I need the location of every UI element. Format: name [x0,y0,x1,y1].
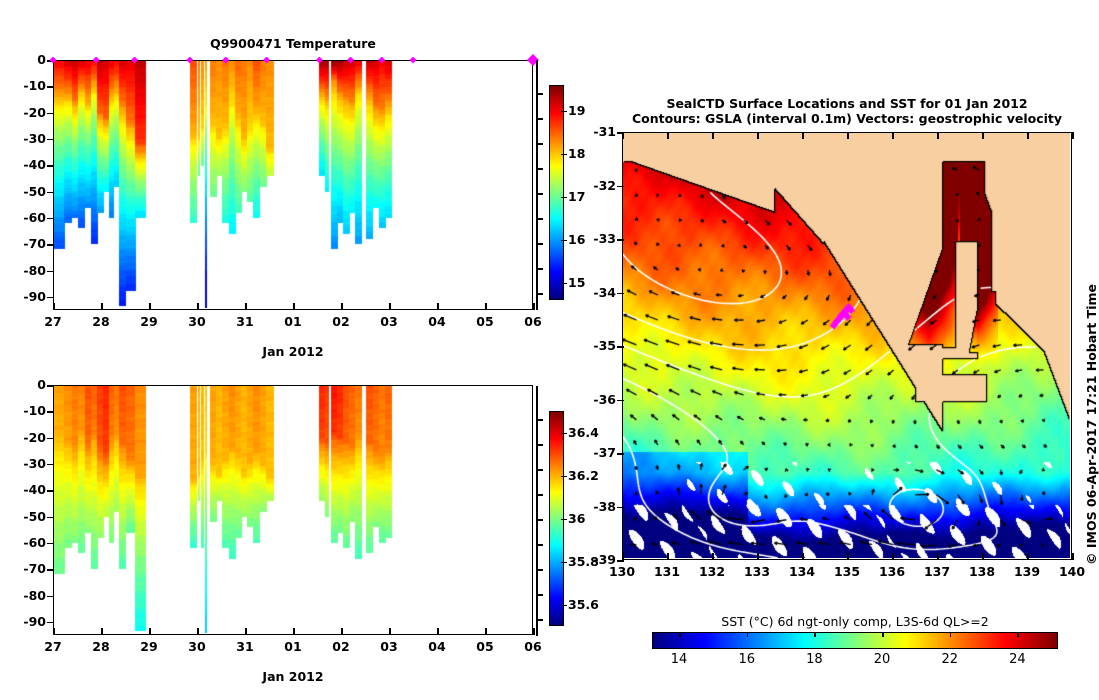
sst-cbar-tick-4: 22 [936,652,964,667]
temperature-ytick-9: -90 [8,291,46,304]
map-xtickmark-top-3 [757,132,759,139]
sst-cbar-tickmark-3 [882,632,884,637]
map-xtickmark-top-4 [802,132,804,139]
map-xtick-1: 131 [650,566,684,579]
map-ytickmark-3 [617,293,624,295]
map-xtickmark-2 [712,553,714,560]
salinity-axes [53,385,533,635]
map-title-line2: Contours: GSLA (interval 0.1m) Vectors: … [622,111,1072,126]
salinity-xtickmark-6 [341,628,343,635]
salinity-ytick-8: -80 [8,590,46,603]
salinity-xtick-6: 02 [325,641,357,654]
map-xtickmark-6 [892,553,894,560]
temperature-cbar-tick-3: 16 [568,234,585,247]
temperature-axes [53,60,533,310]
map-xtickmark-7 [937,553,939,560]
map-xtickmark-4 [802,553,804,560]
salinity-xtick-0: 27 [37,641,69,654]
map-xtick-2: 132 [695,566,729,579]
map-ytickmark-1 [617,186,624,188]
temperature-ytick-4: -40 [8,159,46,172]
salinity-xtick-7: 03 [373,641,405,654]
salinity-ytick-4: -40 [8,484,46,497]
salinity-ytick-1: -10 [8,405,46,418]
imos-credit: © IMOS 06-Apr-2017 17:21 Hobart Time [1084,284,1099,565]
temperature-cbar-tick-2: 17 [568,191,585,204]
salinity-xtick-1: 28 [85,641,117,654]
map-xtickmark-top-7 [937,132,939,139]
temperature-xtickmark-1 [101,303,103,310]
map-ytickmark-7 [617,507,624,509]
salinity-xtick-5: 01 [277,641,309,654]
temperature-xtick-10: 06 [517,316,549,329]
salinity-xtickmark-8 [437,628,439,635]
sst-cbar-tick-3: 20 [868,652,896,667]
salinity-cbar-tick-4: 35.6 [568,599,599,612]
temperature-ytick-5: -50 [8,186,46,199]
salinity-xlabel: Jan 2012 [53,669,533,684]
map-xtickmark-3 [757,553,759,560]
temperature-xtickmark-9 [485,303,487,310]
salinity-ytickmark-9 [47,622,54,624]
temperature-ytickmark-1 [47,86,54,88]
salinity-xtick-2: 29 [133,641,165,654]
temperature-ytickmark-9 [47,297,54,299]
temperature-ytick-6: -60 [8,212,46,225]
temperature-xtick-6: 02 [325,316,357,329]
temperature-ytick-1: -10 [8,80,46,93]
sst-colorbar-label: SST (°C) 6d ngt-only comp, L3S-6d QL>=2 [645,614,1065,629]
salinity-ytickmark-5 [47,517,54,519]
salinity-xtick-9: 05 [469,641,501,654]
temperature-cbar-tickmark-4 [561,283,567,285]
salinity-ytickmark-4 [47,490,54,492]
temperature-ytickmark-4 [47,165,54,167]
temperature-heatmap [54,61,531,308]
salinity-cbar-tick-0: 36.4 [568,427,599,440]
map-xtickmark-9 [1027,553,1029,560]
salinity-ytickmark-2 [47,438,54,440]
map-ytick-1: -32 [586,180,616,193]
sst-cbar-tickmark-1 [747,632,749,637]
temperature-ytick-0: 0 [8,54,46,67]
temperature-ytick-8: -80 [8,265,46,278]
salinity-ytick-6: -60 [8,537,46,550]
salinity-xtickmark-3 [197,628,199,635]
temperature-xtickmark-3 [197,303,199,310]
sst-cbar-tickmark-5 [1017,632,1019,637]
map-ytick-0: -31 [586,126,616,139]
map-xtick-3: 133 [740,566,774,579]
temperature-xtick-9: 05 [469,316,501,329]
map-title-line1: SealCTD Surface Locations and SST for 01… [622,96,1072,111]
salinity-xtick-3: 30 [181,641,213,654]
salinity-cbar-tick-2: 36 [568,513,585,526]
salinity-ytickmark-8 [47,596,54,598]
map-ytick-3: -34 [586,287,616,300]
temperature-xtick-5: 01 [277,316,309,329]
sst-cbar-tick-5: 24 [1003,652,1031,667]
temperature-ytick-2: -20 [8,107,46,120]
temperature-cbar-tick-4: 15 [568,277,585,290]
sst-cbar-tickmark-4 [950,632,952,637]
temperature-ytickmark-2 [47,113,54,115]
map-axes [622,132,1072,560]
salinity-ytick-2: -20 [8,432,46,445]
temperature-ytickmark-5 [47,192,54,194]
salinity-xtick-10: 06 [517,641,549,654]
temperature-cbar-tickmark-1 [561,154,567,156]
map-xtick-8: 138 [965,566,999,579]
map-xtick-10: 140 [1055,566,1089,579]
sst-cbar-tickmark-2 [814,632,816,637]
sst-cbar-tick-1: 16 [733,652,761,667]
temperature-cbar-tick-0: 19 [568,105,585,118]
temperature-xtickmark-10 [533,303,535,310]
temperature-xtick-4: 31 [229,316,261,329]
salinity-ytick-9: -90 [8,616,46,629]
salinity-ytickmark-0 [47,385,54,387]
salinity-cbar-tickmark-4 [561,605,567,607]
salinity-xtick-8: 04 [421,641,453,654]
temperature-xtickmark-5 [293,303,295,310]
temperature-xtickmark-8 [437,303,439,310]
salinity-ytickmark-7 [47,569,54,571]
map-xtick-6: 136 [875,566,909,579]
temperature-ytickmark-8 [47,271,54,273]
salinity-cbar-tickmark-1 [561,476,567,478]
map-ytick-4: -35 [586,340,616,353]
map-ytickmark-5 [617,400,624,402]
salinity-xtickmark-4 [245,628,247,635]
salinity-ytick-5: -50 [8,511,46,524]
map-xtickmark-top-8 [982,132,984,139]
salinity-ytickmark-6 [47,543,54,545]
temperature-xtick-0: 27 [37,316,69,329]
map-xtickmark-1 [667,553,669,560]
temperature-xtick-8: 04 [421,316,453,329]
map-xtickmark-5 [847,553,849,560]
temperature-xtickmark-2 [149,303,151,310]
temperature-xtickmark-7 [389,303,391,310]
map-xtickmark-top-1 [667,132,669,139]
salinity-xtickmark-10 [533,628,535,635]
temperature-cbar-tickmark-3 [561,240,567,242]
salinity-xtickmark-0 [53,628,55,635]
salinity-ytick-3: -30 [8,458,46,471]
temperature-xtick-7: 03 [373,316,405,329]
temperature-xtickmark-0 [53,303,55,310]
map-xtickmark-top-2 [712,132,714,139]
map-ytick-7: -38 [586,501,616,514]
sst-colorbar [652,632,1058,649]
map-xtickmark-8 [982,553,984,560]
salinity-xtickmark-2 [149,628,151,635]
temperature-title: Q9900471 Temperature [53,36,533,51]
salinity-heatmap [54,386,531,633]
salinity-cbar-tick-1: 36.2 [568,470,599,483]
map-xtick-0: 130 [605,566,639,579]
salinity-cbar-tickmark-2 [561,519,567,521]
map-ytick-6: -37 [586,447,616,460]
salinity-xtickmark-5 [293,628,295,635]
temperature-colorbar [549,85,564,300]
map-ytickmark-4 [617,346,624,348]
cbar-outer-spine [536,386,538,636]
salinity-xtick-4: 31 [229,641,261,654]
temperature-ytickmark-7 [47,244,54,246]
temperature-ytickmark-3 [47,139,54,141]
map-ytick-5: -36 [586,394,616,407]
temperature-cbar-tick-1: 18 [568,148,585,161]
temperature-ytick-3: -30 [8,133,46,146]
temperature-xlabel: Jan 2012 [53,344,533,359]
map-ytickmark-8 [617,560,624,562]
temperature-cbar-tickmark-0 [561,111,567,113]
map-xtickmark-top-5 [847,132,849,139]
temperature-xtick-1: 28 [85,316,117,329]
salinity-ytickmark-3 [47,464,54,466]
map-xtick-4: 134 [785,566,819,579]
temperature-xtickmark-6 [341,303,343,310]
sst-cbar-tickmark-0 [679,632,681,637]
salinity-xtickmark-1 [101,628,103,635]
salinity-ytick-7: -70 [8,563,46,576]
map-ytickmark-2 [617,239,624,241]
temperature-ytickmark-6 [47,218,54,220]
map-xtickmark-top-0 [622,132,624,139]
salinity-ytick-0: 0 [8,379,46,392]
temperature-xtick-3: 30 [181,316,213,329]
temperature-ytick-7: -70 [8,238,46,251]
salinity-cbar-tickmark-3 [561,562,567,564]
map-xtick-5: 135 [830,566,864,579]
salinity-ytickmark-1 [47,411,54,413]
temperature-cbar-tickmark-2 [561,197,567,199]
salinity-xtickmark-9 [485,628,487,635]
map-xtick-7: 137 [920,566,954,579]
map-xtickmark-top-10 [1072,132,1074,139]
salinity-xtickmark-7 [389,628,391,635]
map-xtickmark-10 [1072,553,1074,560]
salinity-cbar-tickmark-0 [561,433,567,435]
map-xtickmark-top-9 [1027,132,1029,139]
temperature-xtick-2: 29 [133,316,165,329]
cbar-outer-spine [536,60,538,310]
sst-cbar-tick-2: 18 [800,652,828,667]
temperature-xtickmark-4 [245,303,247,310]
map-xtickmark-0 [622,553,624,560]
sst-cbar-tick-0: 14 [665,652,693,667]
map-xtickmark-top-6 [892,132,894,139]
map-xtick-9: 139 [1010,566,1044,579]
map-ytickmark-6 [617,453,624,455]
map-ytick-2: -33 [586,233,616,246]
